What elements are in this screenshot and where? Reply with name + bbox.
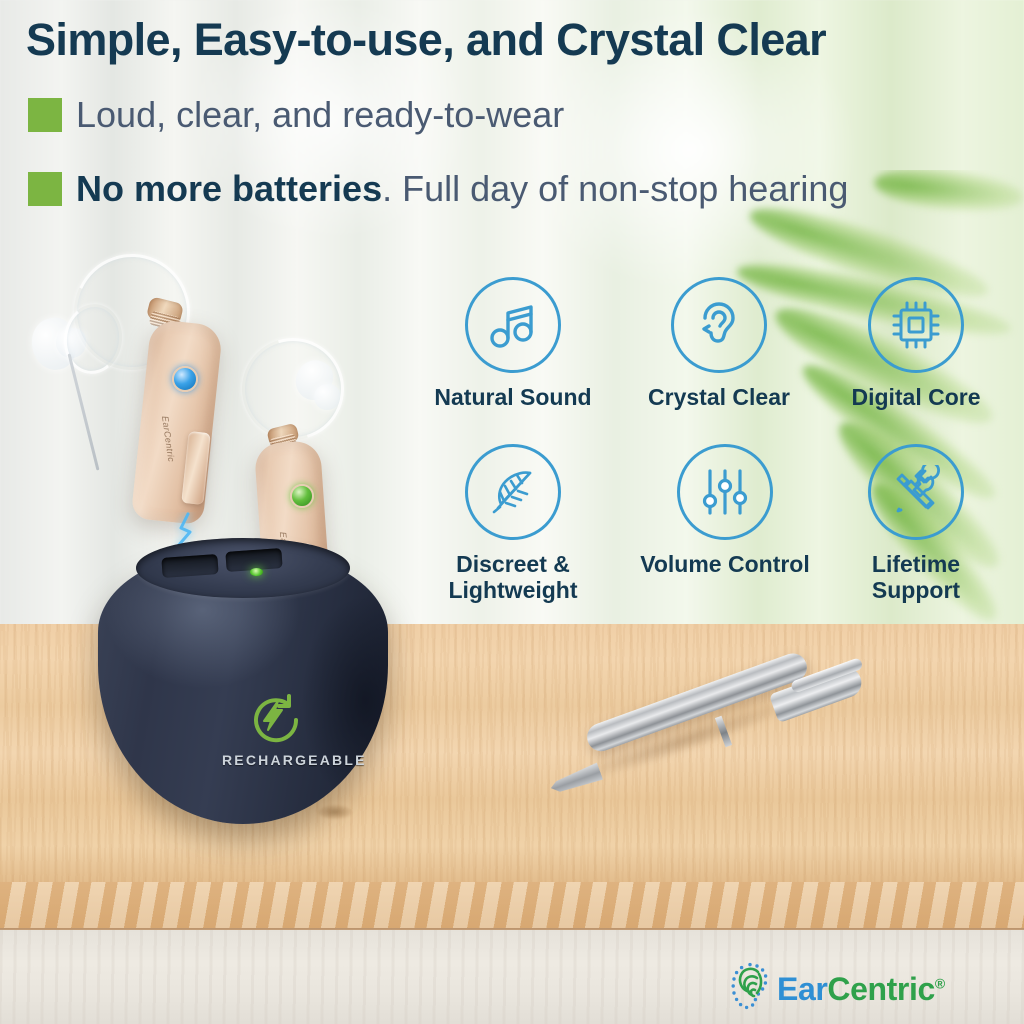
product-marketing-image: Simple, Easy-to-use, and Crystal Clear L… — [0, 0, 1024, 1024]
page-title: Simple, Easy-to-use, and Crystal Clear — [26, 16, 996, 63]
case-rechargeable-label: RECHARGEABLE — [222, 752, 367, 768]
brand-logo: EarCentric® — [730, 962, 945, 1015]
pen-tip — [548, 763, 603, 798]
wrench-screwdriver-icon — [868, 444, 964, 540]
feature-digital-core: Digital Core — [827, 277, 1005, 411]
blue-indicator-dot — [172, 366, 198, 392]
sliders-icon — [677, 444, 773, 540]
feather-icon — [465, 444, 561, 540]
trademark-symbol: ® — [935, 975, 945, 991]
ear-tip-right — [314, 384, 340, 410]
charging-slot-left — [161, 554, 218, 578]
feature-label: Volume Control — [640, 552, 810, 578]
brand-name-part2: Centric — [827, 971, 934, 1007]
brand-name: EarCentric® — [777, 973, 945, 1005]
green-square-bullet-icon — [28, 172, 62, 206]
green-square-bullet-icon — [28, 98, 62, 132]
rechargeable-battery-recycle-icon — [248, 692, 304, 748]
ear-icon — [671, 277, 767, 373]
bullet-2-emphasis: No more batteries — [76, 168, 382, 209]
bullet-item-2: No more batteries. Full day of non-stop … — [28, 170, 848, 208]
feature-lifetime-support: Lifetime Support — [827, 444, 1005, 604]
earcentric-ear-logo-icon — [730, 962, 770, 1015]
bullet-2-rest: . Full day of non-stop hearing — [382, 168, 848, 209]
feature-label: Crystal Clear — [648, 385, 790, 411]
feature-label: Lifetime Support — [872, 552, 960, 604]
table-front-edge — [0, 882, 1024, 930]
bullet-2-label: No more batteries. Full day of non-stop … — [76, 170, 848, 208]
pen-decoration — [548, 676, 878, 806]
music-note-icon — [465, 277, 561, 373]
brand-name-part1: Ear — [777, 971, 827, 1007]
green-indicator-dot — [290, 484, 314, 508]
feature-crystal-clear: Crystal Clear — [625, 277, 813, 411]
microchip-icon — [868, 277, 964, 373]
feature-label: Digital Core — [851, 385, 980, 411]
green-charging-led — [250, 568, 263, 576]
bullet-item-1: Loud, clear, and ready-to-wear — [28, 96, 564, 134]
bullet-1-label: Loud, clear, and ready-to-wear — [76, 96, 564, 134]
feature-volume-control: Volume Control — [625, 444, 825, 578]
charging-case: RECHARGEABLE — [98, 524, 388, 824]
